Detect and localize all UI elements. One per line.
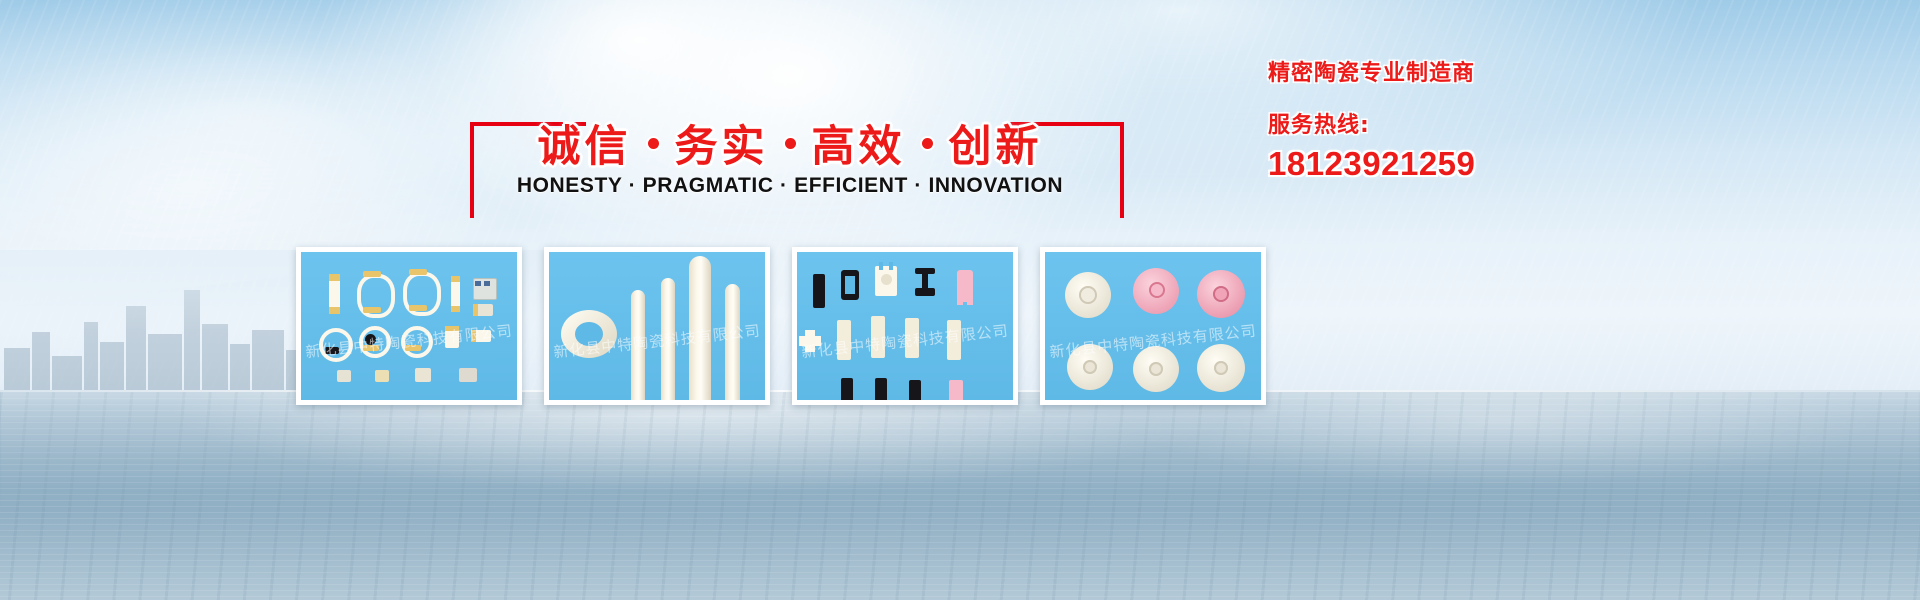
- promo-banner: 诚信 务实 高效 创新 HONESTY · PRAGMATIC · EFFICI…: [0, 0, 1920, 600]
- product-panel-strip: 新化县中特陶瓷科技有限公司 新化县中特陶瓷科技有限公司: [296, 247, 1278, 405]
- hotline-phone-number[interactable]: 18123921259: [1268, 145, 1498, 183]
- product-panel-2[interactable]: 新化县中特陶瓷科技有限公司: [544, 247, 770, 405]
- slogan-dot-icon: [785, 138, 796, 149]
- product-panel-1[interactable]: 新化县中特陶瓷科技有限公司: [296, 247, 522, 405]
- slogan-chinese: 诚信 务实 高效 创新: [470, 108, 1110, 178]
- slogan-word-2: 务实: [675, 112, 769, 174]
- slogan-dot-icon: [648, 138, 659, 149]
- product-panel-3[interactable]: 新化县中特陶瓷科技有限公司: [792, 247, 1018, 405]
- hotline-label: 服务热线:: [1268, 107, 1498, 139]
- company-tagline: 精密陶瓷专业制造商: [1268, 55, 1498, 87]
- slogan-english: HONESTY · PRAGMATIC · EFFICIENT · INNOVA…: [470, 174, 1110, 198]
- slogan-dot-icon: [922, 138, 933, 149]
- ground-reflection: [0, 392, 1920, 512]
- contact-block: 精密陶瓷专业制造商 服务热线: 18123921259: [1268, 55, 1498, 183]
- slogan-word-3: 高效: [812, 112, 906, 174]
- slogan-word-4: 创新: [949, 112, 1043, 174]
- product-panel-4[interactable]: 新化县中特陶瓷科技有限公司: [1040, 247, 1266, 405]
- slogan-block: 诚信 务实 高效 创新 HONESTY · PRAGMATIC · EFFICI…: [470, 108, 1110, 208]
- slogan-word-1: 诚信: [538, 112, 632, 174]
